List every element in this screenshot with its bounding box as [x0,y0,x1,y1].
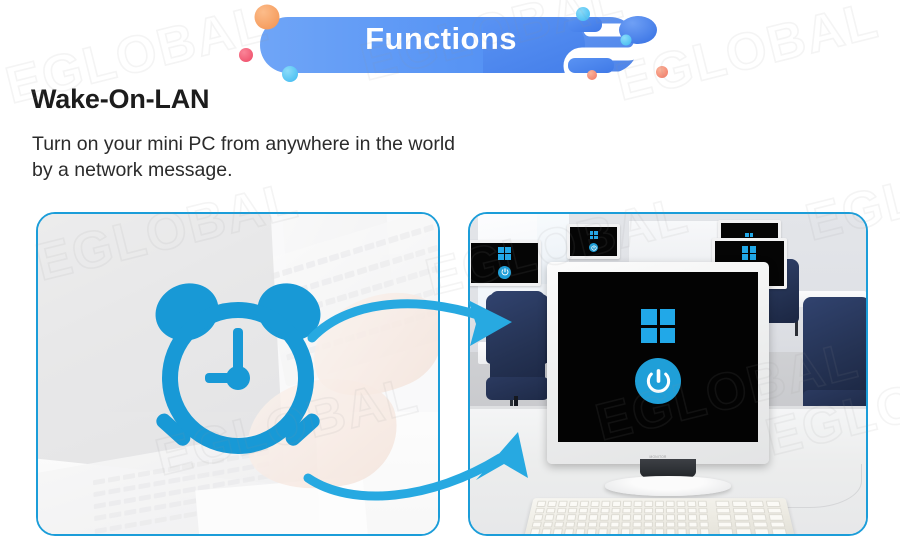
windows-logo-icon [590,231,598,239]
monitor-brand-label: MONITOR [650,455,667,459]
functions-banner: Functions [238,0,668,90]
power-glyph [501,268,509,276]
windows-logo-icon [498,247,511,260]
power-button-icon [589,243,598,252]
chair [803,297,866,399]
description-line-2: by a network message. [32,157,455,183]
classroom-photo: MONITOR [470,214,866,534]
power-glyph [591,245,597,251]
power-button-icon [498,266,511,279]
power-glyph [645,368,672,395]
panel-classroom: MONITOR [468,212,868,536]
windows-logo-icon [742,246,756,260]
alarm-clock-icon [133,270,343,470]
mini-monitor-screen [471,243,538,283]
page-title: Wake-On-LAN [31,84,209,115]
mini-monitor-screen [570,227,617,256]
windows-logo-icon [641,309,675,343]
desktop-keyboard [525,498,796,534]
description-line-1: Turn on your mini PC from anywhere in th… [32,131,455,157]
monitor-stand [605,476,732,495]
mini-monitor [567,224,620,259]
banner-title: Functions [326,18,556,60]
panel-alarm-clock [36,212,440,536]
power-button-icon[interactable] [635,358,681,404]
main-monitor-screen [558,272,758,442]
mini-monitor [470,240,541,286]
main-monitor: MONITOR [547,262,769,464]
page-description: Turn on your mini PC from anywhere in th… [32,131,455,183]
